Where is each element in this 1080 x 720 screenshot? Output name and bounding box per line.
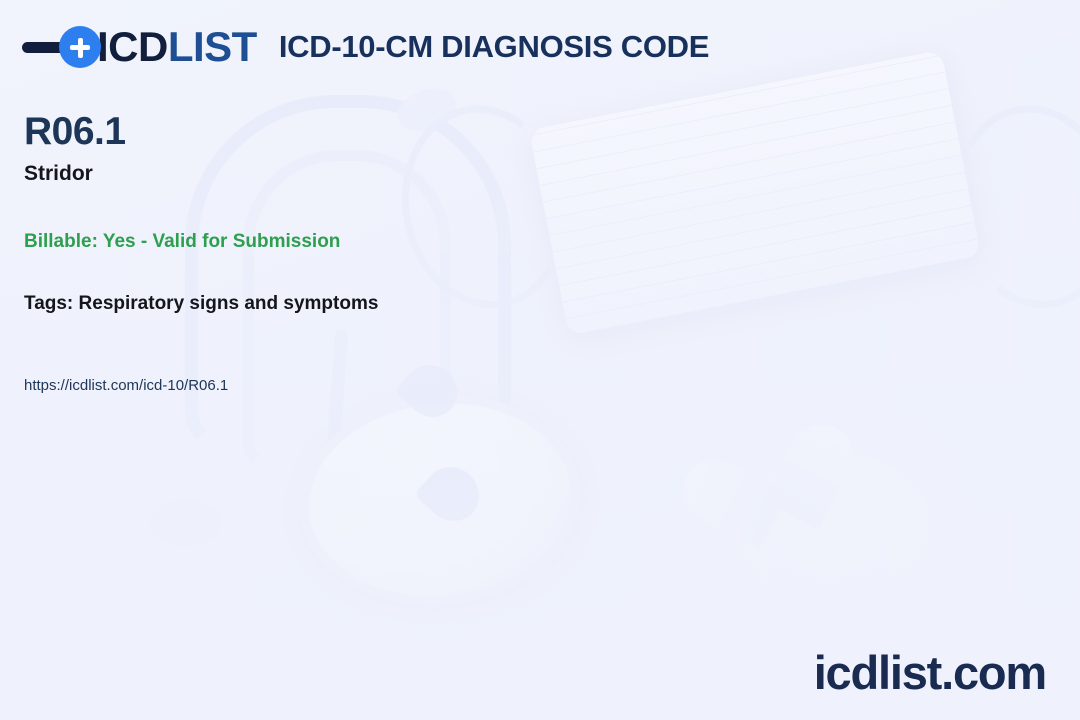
page-title: ICD-10-CM DIAGNOSIS CODE [279,29,709,65]
diagnosis-description: Stridor [24,162,924,186]
stethoscope-chestpiece-icon [290,381,590,619]
source-url[interactable]: https://icdlist.com/icd-10/R06.1 [24,377,924,394]
logo-text-icd: ICD [97,23,168,70]
plus-circle-icon [59,26,101,68]
logo-wordmark: ICDLIST [97,26,257,68]
logo-text-list: LIST [168,23,257,70]
diagnosis-code: R06.1 [24,112,924,153]
stethoscope-eartip-b-icon [414,456,490,532]
icdlist-logo[interactable]: ICDLIST [22,26,257,68]
page-header: ICDLIST ICD-10-CM DIAGNOSIS CODE [22,26,709,68]
code-details: R06.1 Stridor Billable: Yes - Valid for … [24,112,924,394]
billable-status: Billable: Yes - Valid for Submission [24,231,924,253]
icd-code-card: ICDLIST ICD-10-CM DIAGNOSIS CODE R06.1 S… [0,0,1080,720]
tags-line: Tags: Respiratory signs and symptoms [24,293,924,315]
site-watermark: icdlist.com [814,645,1046,700]
stethoscope-earpiece-left-icon [150,500,222,546]
paper-heart-icon [674,436,825,587]
